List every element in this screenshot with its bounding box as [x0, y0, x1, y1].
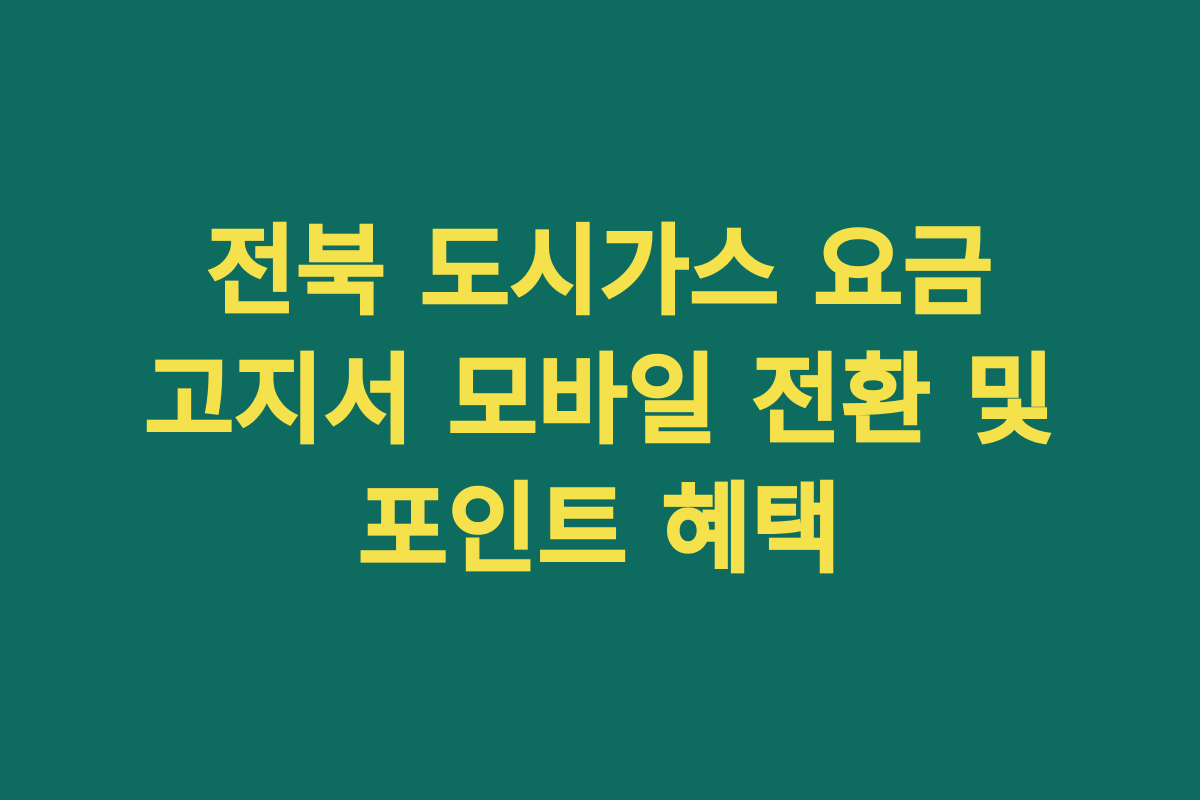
page-title: 전북 도시가스 요금 고지서 모바일 전환 및 포인트 혜택	[100, 207, 1100, 594]
headline-block: 전북 도시가스 요금 고지서 모바일 전환 및 포인트 혜택	[100, 207, 1100, 594]
banner-canvas: 전북 도시가스 요금 고지서 모바일 전환 및 포인트 혜택	[0, 0, 1200, 800]
